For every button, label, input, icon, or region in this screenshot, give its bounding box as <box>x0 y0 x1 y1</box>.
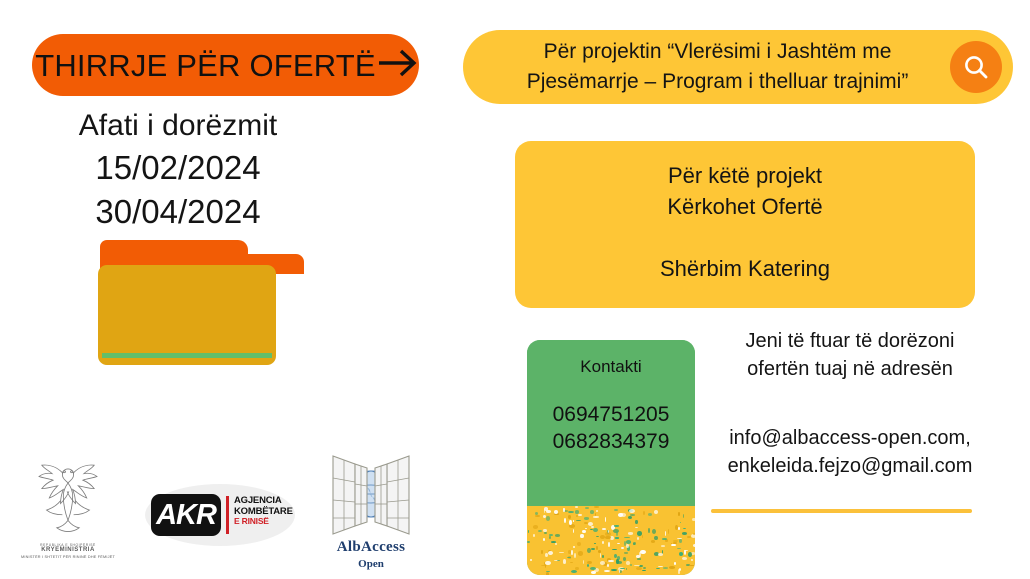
terrazzo-speck <box>591 571 596 574</box>
terrazzo-speck <box>654 536 658 540</box>
terrazzo-speck <box>594 506 599 508</box>
terrazzo-speck <box>629 509 635 513</box>
terrazzo-speck <box>545 561 551 565</box>
terrazzo-speck <box>591 526 594 529</box>
terrazzo-speck <box>583 560 585 564</box>
project-title-text: Për projektin “Vlerësimi i Jashtëm me Pj… <box>463 37 950 97</box>
terrazzo-speck <box>577 542 581 546</box>
terrazzo-speck <box>571 550 573 555</box>
terrazzo-speck <box>546 572 550 575</box>
terrazzo-speck <box>693 544 695 547</box>
contact-card: Kontakti 0694751205 0682834379 <box>527 340 695 575</box>
terrazzo-speck <box>628 532 633 534</box>
terrazzo-speck <box>564 518 566 523</box>
terrazzo-speck <box>671 544 675 547</box>
terrazzo-speck <box>596 536 599 537</box>
terrazzo-speck <box>678 512 680 516</box>
terrazzo-speck <box>668 529 669 534</box>
akr-logo: AKR AGJENCIA KOMBËTARE E RINISË <box>145 484 295 546</box>
terrazzo-speck <box>604 570 610 572</box>
terrazzo-speck <box>549 536 551 539</box>
terrazzo-speck <box>614 509 618 511</box>
terrazzo-speck <box>528 530 530 533</box>
contact-phone-2: 0682834379 <box>553 428 670 455</box>
terrazzo-speck <box>543 538 545 542</box>
terrazzo-speck <box>626 561 630 565</box>
terrazzo-speck <box>585 528 587 530</box>
call-for-offers-banner[interactable]: THIRRJE PËR OFERTË <box>32 34 419 96</box>
government-logo-line3: MINISTËR I SHTETIT PËR RININË DHE FËMIJË… <box>21 555 115 560</box>
terrazzo-speck <box>679 539 682 542</box>
albaccess-logo: AlbAccess Open <box>318 450 424 575</box>
terrazzo-speck <box>600 535 605 539</box>
terrazzo-speck <box>637 537 639 540</box>
terrazzo-speck <box>570 562 573 563</box>
offer-request-card: Për këtë projekt Kërkohet Ofertë Shërbim… <box>515 141 975 308</box>
terrazzo-speck <box>600 553 602 557</box>
terrazzo-speck <box>658 553 664 556</box>
terrazzo-speck <box>541 550 543 555</box>
terrazzo-speck <box>620 568 626 569</box>
terrazzo-speck <box>637 558 641 560</box>
terrazzo-speck <box>615 537 619 539</box>
terrazzo-speck <box>626 568 627 571</box>
submission-email-1[interactable]: info@albaccess-open.com, <box>695 425 1005 453</box>
terrazzo-speck <box>591 548 595 550</box>
terrazzo-speck <box>530 559 531 561</box>
terrazzo-speck <box>612 549 617 550</box>
terrazzo-speck <box>555 534 560 537</box>
submission-emails: info@albaccess-open.com, enkeleida.fejzo… <box>695 425 1005 480</box>
terrazzo-speck <box>624 552 629 554</box>
terrazzo-speck <box>585 507 589 509</box>
contact-phone-1: 0694751205 <box>553 401 670 428</box>
offer-request-line2: Kërkohet Ofertë <box>667 191 822 222</box>
terrazzo-speck <box>669 566 675 569</box>
terrazzo-speck <box>582 530 586 534</box>
contact-card-terrazzo-pattern <box>527 506 695 575</box>
terrazzo-speck <box>575 506 578 508</box>
akr-logo-divider <box>226 496 229 534</box>
terrazzo-speck <box>596 510 598 512</box>
terrazzo-speck <box>674 562 676 564</box>
terrazzo-speck <box>642 535 644 538</box>
terrazzo-speck <box>533 534 535 537</box>
terrazzo-speck <box>546 516 550 521</box>
terrazzo-speck <box>633 542 636 545</box>
terrazzo-speck <box>635 520 638 524</box>
terrazzo-speck <box>614 554 617 558</box>
terrazzo-speck <box>616 531 618 536</box>
terrazzo-speck <box>662 538 667 541</box>
terrazzo-speck <box>679 552 683 556</box>
terrazzo-speck <box>555 543 557 545</box>
terrazzo-speck <box>605 517 606 521</box>
poster-canvas: THIRRJE PËR OFERTË Afati i dorëzmit 15/0… <box>0 0 1030 579</box>
contact-title: Kontakti <box>580 357 641 377</box>
terrazzo-speck <box>548 551 553 555</box>
terrazzo-speck <box>590 510 594 514</box>
terrazzo-speck <box>661 545 666 547</box>
akr-logo-line2: E RINISË <box>234 517 296 527</box>
terrazzo-speck <box>616 559 619 564</box>
terrazzo-speck <box>594 543 596 545</box>
offer-request-line1: Për këtë projekt <box>668 160 822 191</box>
terrazzo-speck <box>691 559 693 561</box>
terrazzo-speck <box>675 525 678 530</box>
terrazzo-speck <box>630 564 633 566</box>
terrazzo-speck <box>593 516 599 518</box>
terrazzo-speck <box>624 541 626 546</box>
terrazzo-speck <box>596 546 598 550</box>
project-title-banner[interactable]: Për projektin “Vlerësimi i Jashtëm me Pj… <box>463 30 1013 104</box>
terrazzo-speck <box>576 520 580 521</box>
terrazzo-speck <box>580 534 584 539</box>
terrazzo-speck <box>590 529 593 530</box>
terrazzo-speck <box>533 525 538 529</box>
terrazzo-speck <box>568 550 571 555</box>
terrazzo-speck <box>600 561 605 565</box>
terrazzo-speck <box>578 514 582 516</box>
submission-email-2[interactable]: enkeleida.fejzo@gmail.com <box>695 453 1005 481</box>
terrazzo-speck <box>665 531 666 536</box>
terrazzo-speck <box>602 555 604 559</box>
terrazzo-speck <box>608 542 610 546</box>
terrazzo-speck <box>544 532 547 535</box>
terrazzo-speck <box>573 546 575 548</box>
terrazzo-speck <box>683 528 686 529</box>
terrazzo-speck <box>538 530 542 532</box>
terrazzo-speck <box>614 525 619 527</box>
contact-card-top: Kontakti 0694751205 0682834379 <box>527 340 695 506</box>
deadline-title: Afati i dorëzmit <box>0 108 356 143</box>
terrazzo-speck <box>608 560 614 562</box>
terrazzo-speck <box>605 536 611 540</box>
terrazzo-speck <box>602 541 604 545</box>
terrazzo-speck <box>559 552 564 554</box>
terrazzo-speck <box>640 550 646 554</box>
terrazzo-speck <box>692 518 695 521</box>
terrazzo-speck <box>593 528 598 533</box>
logo-row: REPUBLIKA E SHQIPËRISË KRYEMINISTRIA MIN… <box>0 448 430 579</box>
terrazzo-speck <box>584 517 589 520</box>
government-logo: REPUBLIKA E SHQIPËRISË KRYEMINISTRIA MIN… <box>14 454 122 572</box>
terrazzo-speck <box>684 550 689 551</box>
terrazzo-speck <box>677 548 682 549</box>
submission-invitation-line2: ofertën tuaj në adresën <box>700 356 1000 384</box>
terrazzo-speck <box>626 544 629 548</box>
terrazzo-speck <box>568 515 572 519</box>
terrazzo-speck <box>611 569 617 571</box>
terrazzo-speck <box>568 511 574 513</box>
terrazzo-speck <box>571 570 577 573</box>
terrazzo-speck <box>607 564 609 567</box>
arrow-right-icon <box>376 46 420 85</box>
deadline-dates: 15/02/2024 30/04/2024 <box>0 146 356 234</box>
terrazzo-speck <box>587 564 589 567</box>
terrazzo-speck <box>693 533 695 535</box>
terrazzo-speck <box>636 567 642 570</box>
folder-body <box>98 265 276 365</box>
terrazzo-speck <box>680 522 682 524</box>
terrazzo-speck <box>651 540 656 543</box>
terrazzo-speck <box>527 541 530 543</box>
terrazzo-speck <box>682 557 688 561</box>
terrazzo-speck <box>678 527 680 530</box>
terrazzo-speck <box>569 520 572 525</box>
terrazzo-speck <box>563 508 564 513</box>
government-logo-line2: KRYEMINISTRIA <box>21 547 115 555</box>
terrazzo-speck <box>573 520 574 522</box>
terrazzo-speck <box>648 528 650 533</box>
terrazzo-speck <box>621 547 624 549</box>
terrazzo-speck <box>574 553 576 558</box>
terrazzo-speck <box>642 570 646 572</box>
terrazzo-speck <box>557 560 560 561</box>
contact-phone-list: 0694751205 0682834379 <box>553 401 670 456</box>
terrazzo-speck <box>541 565 547 566</box>
folder-stripe <box>102 353 272 358</box>
call-for-offers-label: THIRRJE PËR OFERTË <box>35 50 376 81</box>
albanian-eagle-icon <box>21 454 115 540</box>
deadline-date-start: 15/02/2024 <box>0 146 356 190</box>
project-title-line2: Pjesëmarrje – Program i thelluar trajnim… <box>489 67 946 97</box>
project-title-line1: Për projektin “Vlerësimi i Jashtëm me <box>489 37 946 67</box>
terrazzo-speck <box>689 565 694 566</box>
terrazzo-speck <box>602 528 605 530</box>
albaccess-logo-subtitle: Open <box>358 558 384 570</box>
terrazzo-speck <box>595 513 596 516</box>
terrazzo-speck <box>652 529 656 534</box>
submission-invitation-line1: Jeni të ftuar të dorëzoni <box>700 328 1000 356</box>
email-underline <box>711 509 972 513</box>
akr-logo-line1: AGJENCIA KOMBËTARE <box>234 496 296 517</box>
terrazzo-speck <box>563 559 567 564</box>
open-window-globe-icon <box>325 450 417 538</box>
terrazzo-speck <box>654 510 658 514</box>
deadline-date-end: 30/04/2024 <box>0 190 356 234</box>
search-icon[interactable] <box>950 41 1002 93</box>
terrazzo-speck <box>684 550 686 554</box>
terrazzo-speck <box>578 551 583 555</box>
terrazzo-speck <box>624 537 630 538</box>
terrazzo-speck <box>567 557 572 558</box>
terrazzo-speck <box>688 552 693 557</box>
terrazzo-speck <box>617 543 620 545</box>
albaccess-logo-name: AlbAccess <box>337 539 406 556</box>
terrazzo-speck <box>648 513 652 516</box>
terrazzo-speck <box>643 511 645 515</box>
terrazzo-speck <box>683 514 684 519</box>
terrazzo-speck <box>573 529 574 534</box>
akr-logo-mark: AKR <box>151 494 221 536</box>
terrazzo-speck <box>656 568 660 570</box>
folder-icon <box>98 240 276 365</box>
terrazzo-speck <box>687 536 691 538</box>
terrazzo-speck <box>626 540 632 544</box>
submission-invitation: Jeni të ftuar të dorëzoni ofertën tuaj n… <box>700 328 1000 383</box>
terrazzo-speck <box>635 527 639 529</box>
offer-service-label: Shërbim Katering <box>660 256 830 282</box>
terrazzo-speck <box>682 532 687 535</box>
terrazzo-speck <box>628 516 632 519</box>
terrazzo-speck <box>630 514 635 516</box>
terrazzo-speck <box>663 567 668 569</box>
